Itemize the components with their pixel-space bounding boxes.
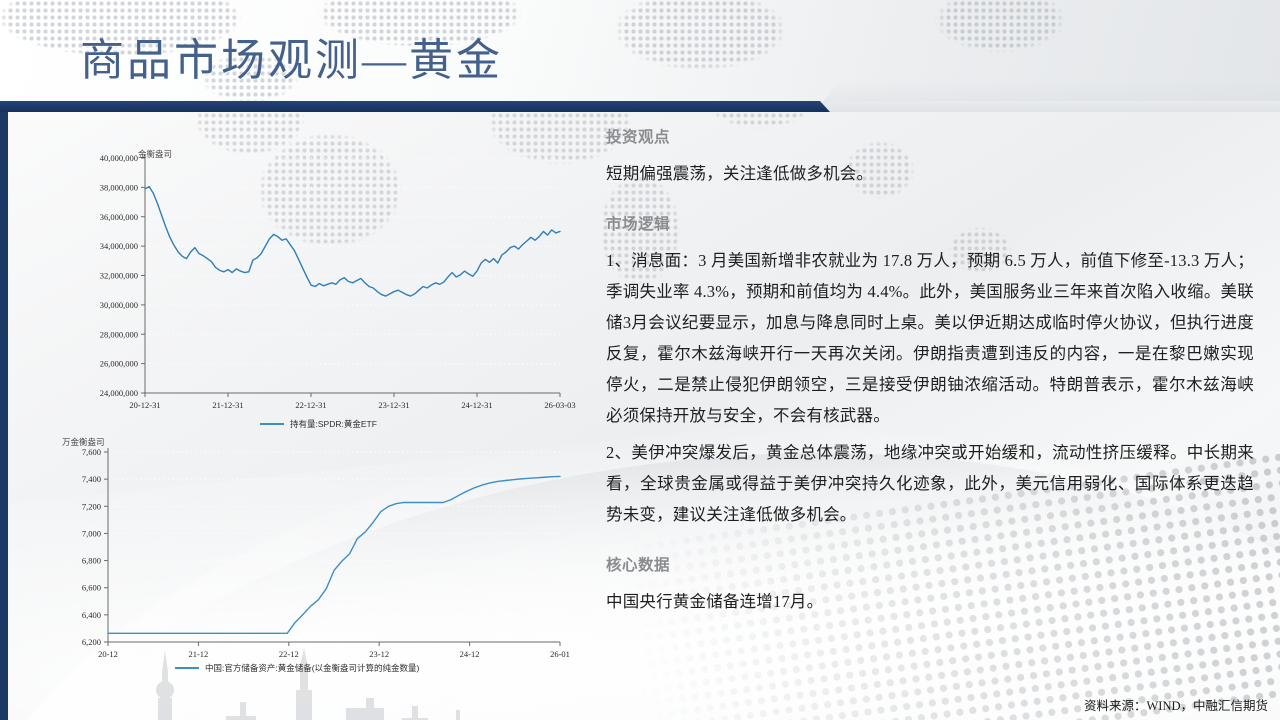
svg-text:21-12: 21-12	[188, 649, 208, 659]
header-accent-rule	[0, 101, 830, 112]
svg-text:7,000: 7,000	[82, 528, 101, 538]
chart-spdr-legend: 持有量:SPDR:黄金ETF	[260, 418, 377, 430]
charts-column: 金衡盎司 24,000,00026,000,00028,000,00030,00…	[40, 140, 580, 700]
svg-text:7,400: 7,400	[82, 474, 101, 484]
svg-text:21-12-31: 21-12-31	[212, 400, 243, 410]
svg-text:22-12-31: 22-12-31	[295, 400, 326, 410]
svg-text:6,800: 6,800	[82, 556, 101, 566]
text-core-data: 中国央行黄金储备连增17月。	[606, 586, 1254, 617]
svg-text:24-12: 24-12	[460, 649, 480, 659]
svg-text:6,400: 6,400	[82, 610, 101, 620]
svg-text:7,200: 7,200	[82, 501, 101, 511]
svg-text:30,000,000: 30,000,000	[100, 300, 138, 310]
chart-spdr-unit-label: 金衡盎司	[138, 148, 172, 160]
svg-text:22-12: 22-12	[279, 649, 299, 659]
svg-text:6,600: 6,600	[82, 583, 101, 593]
slide-header: 商品市场观测—黄金	[0, 0, 1280, 112]
chart-spdr-plot: 24,000,00026,000,00028,000,00030,000,000…	[40, 140, 580, 422]
svg-text:36,000,000: 36,000,000	[100, 212, 138, 222]
source-note: 资料来源：WIND，中融汇信期货	[1084, 695, 1268, 714]
svg-text:20-12-31: 20-12-31	[129, 400, 160, 410]
svg-text:24,000,000: 24,000,000	[100, 388, 138, 398]
text-market-logic-1: 1、消息面：3 月美国新增非农就业为 17.8 万人，预期 6.5 万人，前值下…	[606, 245, 1254, 431]
commentary-panel: 投资观点 短期偏强震荡，关注逢低做多机会。 市场逻辑 1、消息面：3 月美国新增…	[606, 128, 1254, 643]
section-core-data: 核心数据 中国央行黄金储备连增17月。	[606, 556, 1254, 617]
chart-reserves-legend: 中国:官方储备资产:黄金储备(以金衡盎司计算的纯金数量)	[175, 662, 419, 674]
svg-text:23-12-31: 23-12-31	[378, 400, 409, 410]
slide-root: 商品市场观测—黄金	[0, 0, 1280, 720]
section-market-logic: 市场逻辑 1、消息面：3 月美国新增非农就业为 17.8 万人，预期 6.5 万…	[606, 215, 1254, 431]
svg-text:26,000,000: 26,000,000	[100, 359, 138, 369]
legend-swatch-spdr	[260, 423, 284, 425]
svg-text:7,600: 7,600	[82, 447, 101, 457]
text-investment-view: 短期偏强震荡，关注逢低做多机会。	[606, 158, 1254, 189]
svg-text:26-01: 26-01	[550, 649, 570, 659]
legend-label-spdr: 持有量:SPDR:黄金ETF	[290, 418, 377, 430]
chart-spdr-gold-etf: 金衡盎司 24,000,00026,000,00028,000,00030,00…	[40, 140, 580, 440]
page-title: 商品市场观测—黄金	[80, 33, 503, 89]
svg-text:6,200: 6,200	[82, 637, 101, 647]
svg-text:20-12: 20-12	[98, 649, 118, 659]
svg-text:28,000,000: 28,000,000	[100, 329, 138, 339]
section-market-logic-2: 2、美伊冲突爆发后，黄金总体震荡，地缘冲突或开始缓和，流动性挤压缓释。中长期来看…	[606, 437, 1254, 530]
chart-china-gold-reserves: 万金衡盎司 6,2006,4006,6006,8007,0007,2007,40…	[40, 434, 580, 684]
svg-text:23-12: 23-12	[369, 649, 389, 659]
svg-text:26-03-03: 26-03-03	[544, 400, 575, 410]
svg-text:38,000,000: 38,000,000	[100, 182, 138, 192]
header-rule-tail	[828, 101, 1280, 112]
chart-reserves-plot: 6,2006,4006,6006,8007,0007,2007,4007,600…	[40, 434, 580, 666]
heading-investment-view: 投资观点	[606, 128, 1254, 148]
svg-text:32,000,000: 32,000,000	[100, 271, 138, 281]
chart-reserves-unit-label: 万金衡盎司	[62, 436, 105, 448]
svg-text:24-12-31: 24-12-31	[461, 400, 492, 410]
legend-label-reserves: 中国:官方储备资产:黄金储备(以金衡盎司计算的纯金数量)	[205, 662, 419, 674]
svg-text:34,000,000: 34,000,000	[100, 241, 138, 251]
heading-core-data: 核心数据	[606, 556, 1254, 576]
text-market-logic-2: 2、美伊冲突爆发后，黄金总体震荡，地缘冲突或开始缓和，流动性挤压缓释。中长期来看…	[606, 437, 1254, 530]
section-investment-view: 投资观点 短期偏强震荡，关注逢低做多机会。	[606, 128, 1254, 189]
svg-text:40,000,000: 40,000,000	[100, 153, 138, 163]
heading-market-logic: 市场逻辑	[606, 215, 1254, 235]
legend-swatch-reserves	[175, 667, 199, 669]
